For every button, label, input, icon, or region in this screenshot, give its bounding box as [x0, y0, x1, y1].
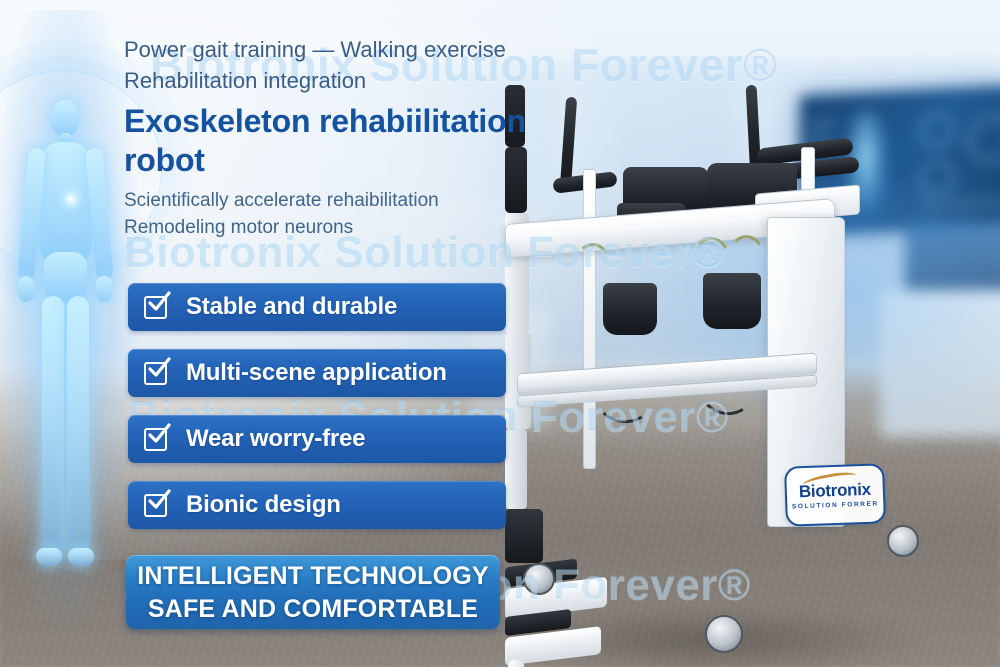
holographic-human-figure [0, 10, 142, 630]
checkbox-checked-icon [144, 360, 170, 386]
product-logo-badge: Biotronix SOLUTION FORRER [784, 463, 886, 526]
motor-housing [505, 509, 543, 563]
leg-cuff-left [603, 283, 657, 335]
headline-line-1: Exoskeleton rehabiilitation [124, 102, 664, 141]
caster-wheel [523, 563, 555, 595]
caster-wheel [705, 615, 743, 653]
logo-tagline: SOLUTION FORRER [792, 500, 879, 510]
hologram-leg-right [67, 296, 89, 556]
feature-item-stable-and-durable[interactable]: Stable and durable [128, 283, 506, 331]
leg-cuff-right [703, 273, 761, 329]
feature-label: Wear worry-free [186, 425, 365, 453]
hologram-head [51, 100, 79, 136]
feature-item-multi-scene-application[interactable]: Multi-scene application [128, 349, 506, 397]
actuator-cylinder-right [505, 429, 527, 509]
bottom-banner[interactable]: INTELLIGENT TECHNOLOGY SAFE AND COMFORTA… [126, 555, 500, 629]
feature-label: Stable and durable [186, 293, 397, 321]
caster-wheel [887, 525, 919, 557]
hologram-hand-left [18, 276, 34, 302]
feature-label: Multi-scene application [186, 359, 447, 387]
hologram-hand-right [96, 276, 112, 302]
feature-label: Bionic design [186, 491, 341, 519]
checkbox-checked-icon [144, 294, 170, 320]
kicker-line-2: Rehabilitation integration [124, 65, 664, 96]
hologram-body [10, 100, 120, 600]
hologram-core-glow [58, 186, 84, 212]
checkbox-checked-icon [144, 426, 170, 452]
subcopy-line-2: Remodeling motor neurons [124, 214, 664, 241]
headline-block: Power gait training — Walking exercise R… [124, 34, 664, 241]
banner-line-2: SAFE AND COMFORTABLE [148, 593, 478, 626]
headline-line-2: robot [124, 141, 664, 180]
feature-item-wear-worry-free[interactable]: Wear worry-free [128, 415, 506, 463]
banner-line-1: INTELLIGENT TECHNOLOGY [137, 560, 489, 593]
hologram-leg-left [42, 296, 64, 556]
hologram-foot-right [68, 548, 94, 566]
kicker-line-1: Power gait training — Walking exercise [124, 34, 664, 65]
poster-canvas: Biotronix SOLUTION FORRER Biotronix Solu… [0, 0, 1000, 667]
checkbox-checked-icon [144, 492, 170, 518]
subcopy-line-1: Scientifically accelerate rehaibilitatio… [124, 187, 664, 214]
hologram-foot-left [36, 548, 62, 566]
feature-item-bionic-design[interactable]: Bionic design [128, 481, 506, 529]
feature-list: Stable and durable Multi-scene applicati… [128, 283, 506, 547]
diagram-ring-icon [968, 115, 1000, 163]
